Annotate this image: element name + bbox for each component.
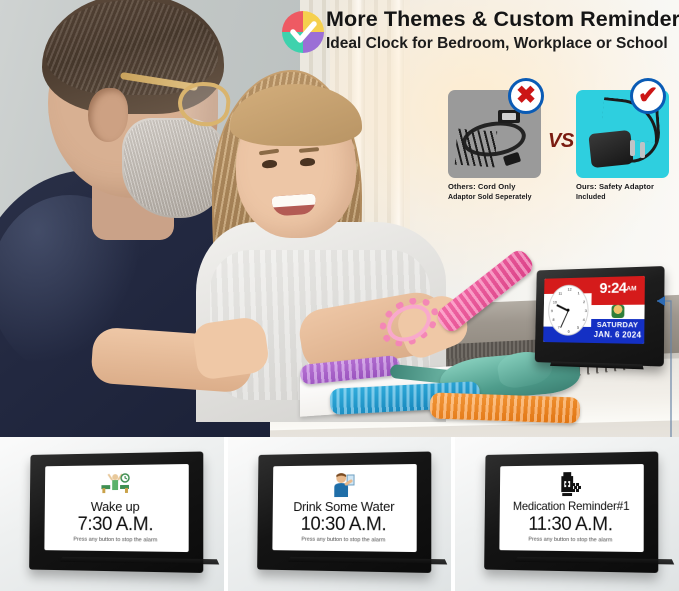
device-frame: Wake up 7:30 A.M. Press any button to st… bbox=[29, 451, 203, 573]
hero-lifestyle-photo: 12 1 2 3 4 5 6 7 8 9 10 11 bbox=[0, 0, 679, 437]
reminder-title: Wake up bbox=[91, 499, 140, 514]
clock-numeral: 4 bbox=[583, 318, 585, 322]
competitor-caption-line2: Adaptor Sold Seperately bbox=[448, 193, 566, 204]
cable-connector-tails bbox=[455, 129, 497, 168]
clock-numeral: 1 bbox=[578, 291, 580, 295]
clock-numeral: 11 bbox=[558, 292, 562, 296]
clock-numeral: 12 bbox=[568, 288, 572, 292]
day-clock-device[interactable]: 12 1 2 3 4 5 6 7 8 9 10 11 bbox=[535, 266, 665, 367]
device-stand bbox=[288, 557, 447, 565]
person-drinking-water-icon bbox=[326, 470, 360, 498]
red-check-icon: ✔ bbox=[630, 78, 666, 114]
product-marketing-image: 12 1 2 3 4 5 6 7 8 9 10 11 bbox=[0, 0, 679, 591]
reminder-panel-wake-up[interactable]: Wake up 7:30 A.M. Press any button to st… bbox=[0, 437, 224, 591]
clock-numeral: 3 bbox=[585, 309, 587, 313]
digital-info-region: 9:24AM SATURDAY JAN. 6 2024 bbox=[591, 276, 645, 344]
clock-numeral: 9 bbox=[551, 309, 553, 313]
reminder-panel-medication[interactable]: Medication Reminder#1 11:30 A.M. Press a… bbox=[455, 437, 679, 591]
clock-numeral: 6 bbox=[568, 330, 570, 334]
sunrise-person-icon bbox=[611, 305, 624, 318]
reminder-time: 7:30 A.M. bbox=[77, 514, 153, 535]
power-adaptor-icon bbox=[588, 130, 633, 168]
reminder-time: 11:30 A.M. bbox=[529, 514, 613, 535]
our-caption: Ours: Safety Adaptor Included bbox=[576, 182, 679, 203]
red-x-icon: ✖ bbox=[508, 78, 544, 114]
adaptor-comparison: ✖ ✔ VS Others: Cord Only Adaptor Sold Se… bbox=[448, 90, 676, 208]
vs-label: VS bbox=[548, 130, 574, 153]
date-label: JAN. 6 2024 bbox=[591, 329, 644, 341]
orange-marker bbox=[430, 392, 581, 423]
analog-clock-region: 12 1 2 3 4 5 6 7 8 9 10 11 bbox=[543, 277, 592, 343]
reminder-panel-strip: Wake up 7:30 A.M. Press any button to st… bbox=[0, 437, 679, 591]
our-caption-line1: Ours: Safety Adaptor bbox=[576, 182, 654, 191]
brand-logo-icon bbox=[282, 11, 324, 53]
reminder-time: 10:30 A.M. bbox=[300, 514, 386, 535]
adaptor-prongs bbox=[630, 140, 648, 160]
clock-numeral: 8 bbox=[552, 318, 554, 322]
reminder-note: Press any button to stop the alarm bbox=[301, 536, 385, 545]
page-subtitle: Ideal Clock for Bedroom, Workplace or Sc… bbox=[326, 33, 679, 55]
device-frame: Drink Some Water 10:30 A.M. Press any bu… bbox=[257, 451, 431, 573]
reminder-title: Medication Reminder#1 bbox=[513, 499, 630, 514]
page-title: More Themes & Custom Reminders bbox=[326, 6, 679, 32]
clock-numeral: 2 bbox=[583, 300, 585, 304]
digital-time: 9:24AM bbox=[593, 277, 642, 301]
clock-minute-hand bbox=[560, 311, 569, 328]
reminder-screen: Wake up 7:30 A.M. Press any button to st… bbox=[44, 464, 188, 552]
digital-ampm: AM bbox=[626, 285, 636, 292]
pill-bottle-icon bbox=[554, 470, 588, 498]
our-caption-line2: Included bbox=[576, 193, 679, 204]
header: More Themes & Custom Reminders Ideal Clo… bbox=[282, 6, 679, 55]
reminder-screen: Medication Reminder#1 11:30 A.M. Press a… bbox=[500, 464, 644, 552]
competitor-caption: Others: Cord Only Adaptor Sold Seperatel… bbox=[448, 182, 566, 203]
device-stand bbox=[516, 557, 675, 565]
clock-numeral: 5 bbox=[577, 326, 579, 330]
day-clock-screen: 12 1 2 3 4 5 6 7 8 9 10 11 bbox=[543, 276, 645, 344]
cable-tip bbox=[503, 152, 521, 166]
device-stand bbox=[60, 557, 219, 565]
man-ear bbox=[88, 88, 128, 142]
reminder-panel-drink-water[interactable]: Drink Some Water 10:30 A.M. Press any bu… bbox=[228, 437, 452, 591]
reminder-note: Press any button to stop the alarm bbox=[73, 536, 157, 545]
reminder-title: Drink Some Water bbox=[293, 499, 394, 514]
reminder-note: Press any button to stop the alarm bbox=[529, 536, 613, 545]
reminder-screen: Drink Some Water 10:30 A.M. Press any bu… bbox=[272, 464, 416, 552]
person-waking-in-bed-icon bbox=[98, 470, 132, 498]
competitor-caption-line1: Others: Cord Only bbox=[448, 182, 516, 191]
clock-center-pin bbox=[567, 309, 570, 312]
girl-teeth bbox=[271, 193, 316, 207]
device-frame: Medication Reminder#1 11:30 A.M. Press a… bbox=[484, 451, 658, 573]
